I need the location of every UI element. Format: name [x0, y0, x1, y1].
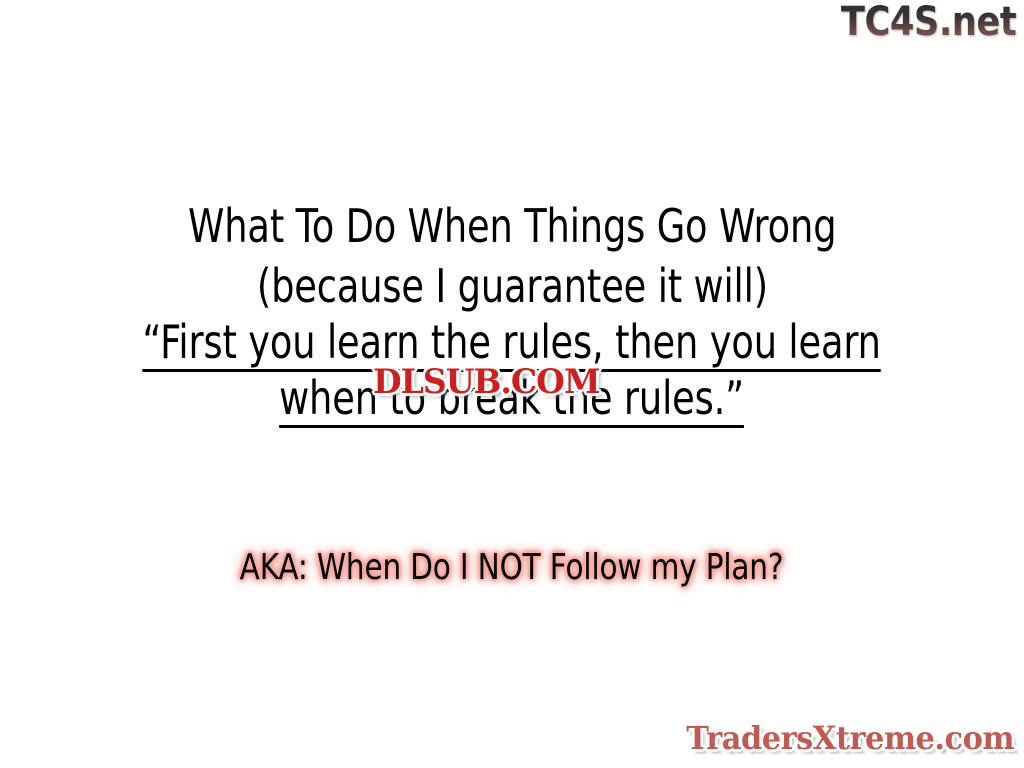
slide-canvas: TC4S.net What To Do When Things Go Wrong…: [0, 0, 1024, 768]
aka-subheading: AKA: When Do I NOT Follow my Plan?: [0, 546, 1024, 590]
headline-line-1: What To Do When Things Go Wrong: [0, 196, 1024, 256]
headline-line-2: (because I guarantee it will): [0, 256, 1024, 316]
headline-line-1-text: What To Do When Things Go Wrong: [188, 196, 836, 256]
headline-line-2-text: (because I guarantee it will): [256, 256, 767, 316]
tc4s-watermark: TC4S.net: [841, 2, 1016, 42]
dlsub-watermark: DLSUB.COM: [373, 364, 599, 400]
aka-subheading-text: AKA: When Do I NOT Follow my Plan?: [240, 546, 784, 590]
tradersxtreme-watermark: TradersXtreme.com: [686, 722, 1014, 756]
